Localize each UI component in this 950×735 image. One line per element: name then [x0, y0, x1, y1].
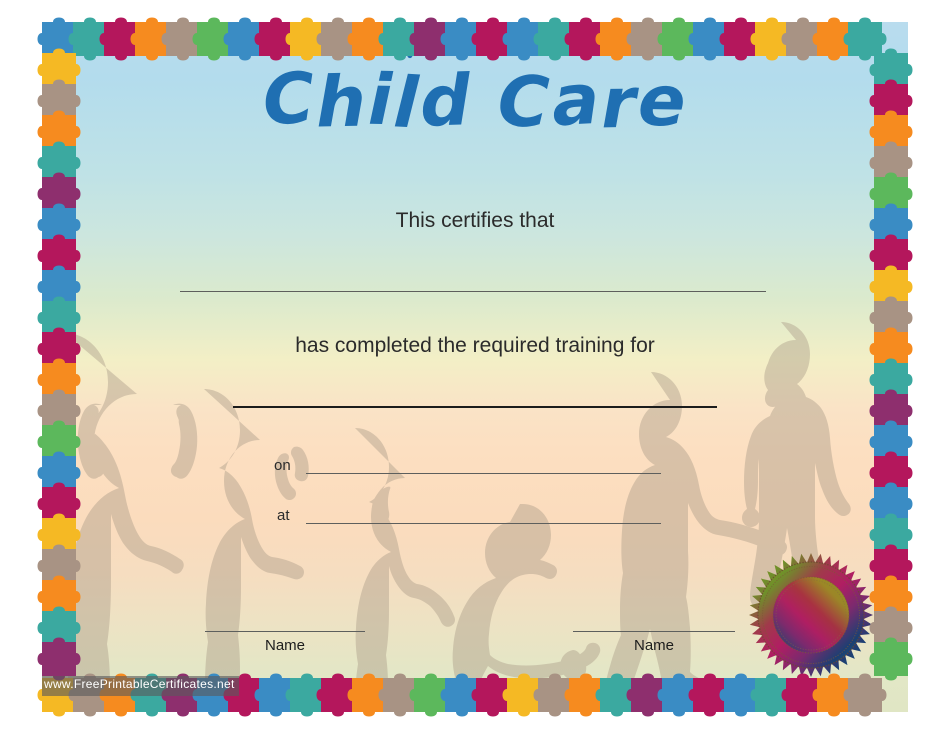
title-letter: C [497, 60, 553, 144]
at-location-line[interactable] [306, 523, 661, 524]
seal-body [749, 553, 873, 677]
at-label: at [277, 507, 290, 524]
signature-right-label: Name [573, 637, 735, 654]
certificate-page: ChildCare This certifies that has comple… [0, 0, 950, 735]
certificate-background: ChildCare This certifies that has comple… [42, 22, 908, 712]
title-letter: h [316, 61, 369, 144]
on-date-line[interactable] [306, 473, 661, 474]
signature-line-right[interactable] [573, 631, 735, 632]
title-letter: C [261, 57, 319, 142]
title-letter: r [600, 62, 638, 145]
recipient-name-line[interactable] [180, 291, 766, 292]
title-letter: i [368, 59, 395, 141]
title-letter: d [419, 59, 474, 143]
certificate-frame: ChildCare This certifies that has comple… [42, 22, 908, 712]
page-title: ChildCare [42, 60, 908, 142]
watermark-url: www.FreePrintableCertificates.net [42, 676, 239, 696]
title-letter: e [637, 60, 688, 143]
title-letter: a [550, 58, 603, 142]
certifies-text: This certifies that [42, 209, 908, 233]
on-label: on [274, 457, 291, 474]
signature-line-left[interactable] [205, 631, 365, 632]
award-seal [748, 552, 874, 678]
title-letter: l [392, 61, 422, 144]
training-subject-line[interactable] [233, 406, 717, 408]
training-text: has completed the required training for [42, 334, 908, 358]
signature-left-label: Name [205, 637, 365, 654]
certificate-content: ChildCare This certifies that has comple… [42, 22, 908, 712]
